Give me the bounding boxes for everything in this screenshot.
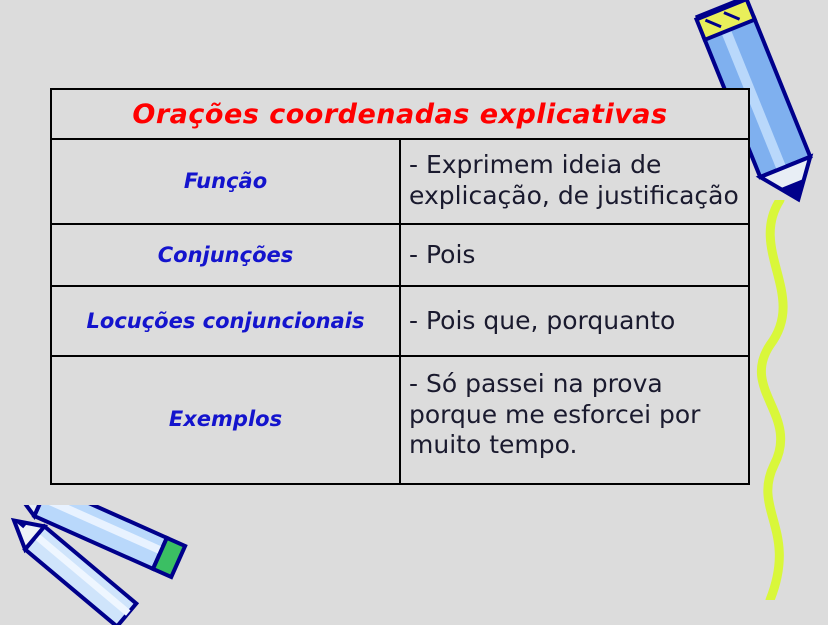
grammar-table: Orações coordenadas explicativas Função … [50,88,750,485]
table-row: Função - Exprimem ideia de explicação, d… [51,139,749,224]
row-label-funcao: Função [51,139,400,224]
grammar-table-container: Orações coordenadas explicativas Função … [50,88,750,485]
table-title: Orações coordenadas explicativas [51,89,749,139]
row-content-funcao: - Exprimem ideia de explicação, de justi… [400,139,749,224]
row-content-locucoes: - Pois que, porquanto [400,286,749,356]
table-row: Locuções conjuncionais - Pois que, porqu… [51,286,749,356]
row-content-exemplos: - Só passei na prova porque me esforcei … [400,356,749,484]
row-label-conjuncoes: Conjunções [51,224,400,286]
table-row-title: Orações coordenadas explicativas [51,89,749,139]
table-row: Exemplos - Só passei na prova porque me … [51,356,749,484]
slide-canvas: Orações coordenadas explicativas Função … [0,0,828,621]
squiggle-line-icon [740,200,810,600]
row-content-conjuncoes: - Pois [400,224,749,286]
table-row: Conjunções - Pois [51,224,749,286]
row-label-exemplos: Exemplos [51,356,400,484]
row-label-locucoes: Locuções conjuncionais [51,286,400,356]
pencil-bottom-left-icon [0,505,200,625]
